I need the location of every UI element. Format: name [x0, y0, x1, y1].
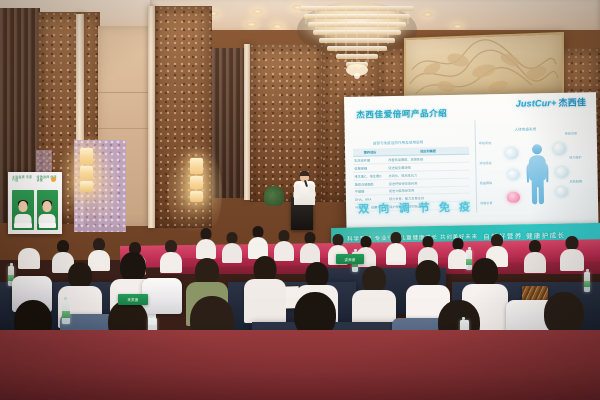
headline-char: 双	[358, 201, 369, 217]
sconce-shade	[80, 148, 93, 164]
brand-logo-latin: JustCur+	[516, 98, 557, 109]
diagram-right-label: 视力保护	[569, 154, 581, 159]
name-tent-label: 来宾席	[127, 297, 138, 302]
audience-member	[560, 236, 584, 270]
floor-carpet	[0, 330, 600, 400]
wall-mosaic-panel	[152, 6, 212, 228]
person-head	[120, 252, 146, 282]
audience-member	[196, 228, 216, 258]
brand-logo: JustCur+杰西佳	[516, 95, 587, 109]
person-body	[560, 249, 584, 271]
speaker-face	[18, 201, 27, 212]
wall-sconce	[80, 148, 93, 194]
diagram-right-label: 皮肤黏膜	[570, 178, 582, 183]
sconce-shade	[190, 191, 203, 202]
sconce-shade	[190, 158, 203, 174]
standee-banner-left: 主讲嘉宾 专家介绍 特邀讲师 健康讲堂	[8, 172, 62, 234]
bottle-label	[584, 281, 590, 287]
organ-icon-eye	[555, 167, 568, 178]
person-body	[18, 248, 40, 269]
person-head	[68, 262, 92, 289]
name-tent: 来宾席	[118, 294, 148, 305]
conference-hall-photo: 杰西佳爱倍呵产品介绍 JustCur+杰西佳 益智与免疫适应作用及使用说明 营养…	[0, 0, 600, 400]
body-diagram: 人体免疫系统 呼吸系统 消化吸收 肠道屏障 骨骼发育 神经发育 视力保护 皮肤黏…	[479, 120, 595, 222]
audience-member	[300, 232, 320, 262]
slide-divider	[474, 120, 477, 212]
audience-member	[160, 240, 182, 272]
projection-screen: 杰西佳爱倍呵产品介绍 JustCur+杰西佳 益智与免疫适应作用及使用说明 营养…	[344, 92, 599, 231]
diagram-left-label: 消化吸收	[479, 160, 491, 165]
curtain-center	[212, 48, 246, 198]
diagram-left-label: 骨骼发育	[480, 200, 492, 205]
organ-icon-intestine	[507, 192, 520, 203]
diagram-right-label: 神经发育	[565, 131, 577, 136]
diagram-left-label: 呼吸系统	[479, 140, 491, 145]
stage-plant	[264, 186, 284, 206]
person-body	[386, 243, 406, 265]
person-body	[160, 252, 182, 273]
person-head	[362, 266, 386, 293]
crystal-chandelier	[296, 0, 418, 86]
ceiling-downlight	[246, 22, 257, 27]
speaker-face	[43, 201, 52, 212]
wall-pillar	[148, 6, 155, 228]
ceiling-downlight	[452, 24, 463, 29]
person-head	[566, 236, 579, 250]
name-tent: 讲师席	[336, 254, 364, 264]
speaker-hair	[300, 171, 309, 176]
ceiling-downlight	[422, 12, 433, 17]
slide-title: 杰西佳爱倍呵产品介绍	[356, 107, 447, 121]
wall-sconce	[190, 158, 203, 204]
brand-logo-cn: 杰西佳	[558, 97, 586, 108]
standee-accent-dot	[51, 177, 56, 182]
person-body	[524, 252, 546, 273]
human-body-silhouette	[525, 143, 550, 205]
name-tent-label: 讲师席	[344, 257, 355, 262]
person-head	[416, 260, 441, 288]
slide-content: 杰西佳爱倍呵产品介绍 JustCur+杰西佳 益智与免疫适应作用及使用说明 营养…	[344, 92, 599, 231]
headline-char: 调	[398, 200, 409, 216]
slide-headline-characters: 双 向 调 节 免 疫	[358, 199, 470, 217]
audience-member	[386, 232, 406, 264]
standee-heading-left: 主讲嘉宾 专家介绍	[12, 176, 34, 188]
sconce-shade	[80, 166, 93, 179]
sconce-shade	[80, 181, 93, 192]
ceiling-downlight	[272, 24, 283, 29]
person-head	[472, 258, 498, 287]
organ-icon-lung	[505, 148, 518, 159]
organ-icon-stomach	[507, 170, 519, 180]
headline-char: 向	[378, 200, 389, 216]
organ-icon-brain	[553, 143, 566, 155]
person-body	[196, 239, 216, 259]
sconce-shade	[190, 176, 203, 189]
speaker-name-plate	[39, 223, 57, 228]
speaker-name-plate	[14, 223, 32, 228]
person-head	[195, 258, 219, 285]
organ-icon-skin	[556, 187, 568, 197]
audience-member	[18, 236, 40, 268]
water-bottle	[62, 300, 70, 324]
headline-char: 节	[419, 199, 430, 215]
person-body	[300, 243, 320, 263]
audience-member	[524, 240, 546, 272]
ceiling-downlight	[252, 9, 263, 14]
table-caption: 益智与免疫适应作用及使用说明	[373, 140, 423, 146]
standee-speaker-cards	[12, 190, 58, 230]
speaker-card	[12, 190, 34, 230]
headline-char: 疫	[459, 199, 470, 215]
diagram-left-label: 肠道屏障	[480, 180, 492, 185]
diagram-center-label: 人体免疫系统	[515, 127, 537, 132]
water-bottle	[584, 272, 590, 292]
speaker-card	[37, 190, 59, 230]
audience-member	[248, 226, 268, 258]
bottle-label	[62, 311, 70, 318]
headline-char: 免	[439, 199, 450, 215]
